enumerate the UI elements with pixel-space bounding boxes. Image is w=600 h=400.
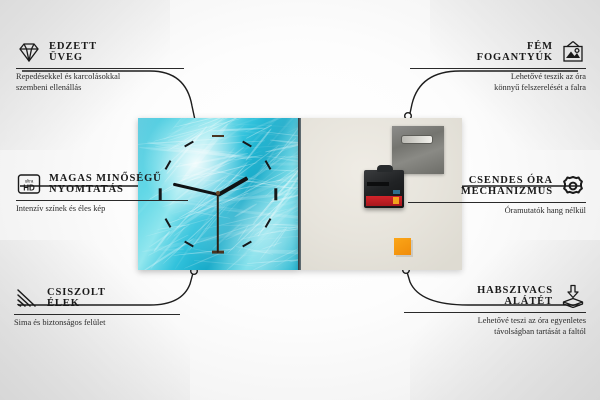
feature-title-line1: HABSZIVACS: [477, 285, 553, 296]
feature-title-line1: CSISZOLT: [47, 287, 106, 298]
feature-header: EDZETT ÜVEG: [16, 40, 184, 64]
feature-description-line1: Óramutatók hang nélkül: [408, 206, 586, 217]
feature-header: HABSZIVACS ALÁTÉT: [404, 284, 586, 308]
feature-title-line2: ÉLEK: [47, 298, 106, 309]
feature-title-group: HABSZIVACS ALÁTÉT: [477, 285, 553, 308]
mechanism-red-label: [366, 196, 402, 206]
feature-tempered-glass: EDZETT ÜVEG Repedésekkel és karcolásokka…: [16, 40, 184, 93]
feature-title-line1: MAGAS MINŐSÉGŰ: [49, 173, 162, 184]
hanger-slot: [401, 135, 433, 144]
panel-edge-seam: [298, 118, 301, 270]
feature-description-line1: Intenzív színek és éles kép: [16, 204, 188, 215]
feature-title-line2: ALÁTÉT: [504, 296, 553, 307]
foam-pad-icon: [560, 284, 586, 308]
feature-title-group: CSISZOLT ÉLEK: [47, 287, 106, 310]
feature-title-group: FÉM FOGANTYÚK: [477, 41, 553, 64]
feature-polished-edges: CSISZOLT ÉLEK Sima és biztonságos felüle…: [14, 286, 180, 329]
svg-text:HD: HD: [23, 183, 35, 192]
feature-title-group: CSENDES ÓRA MECHANIZMUS: [461, 175, 553, 198]
feature-description-line1: Lehetővé teszik az óra: [410, 72, 586, 83]
polished-edge-icon: [14, 286, 40, 310]
feature-title-line1: CSENDES ÓRA: [469, 175, 553, 186]
feature-header: CSENDES ÓRA MECHANIZMUS: [408, 174, 586, 198]
feature-header: CSISZOLT ÉLEK: [14, 286, 180, 310]
feature-description-line2: távolságban tartását a faltól: [404, 327, 586, 338]
feature-header: ultra HD MAGAS MINŐSÉGŰ NYOMTATÁS: [16, 172, 188, 196]
ultra-hd-icon: ultra HD: [16, 172, 42, 196]
feature-silent-mechanism: CSENDES ÓRA MECHANIZMUS Óramutatók hang …: [408, 174, 586, 217]
foam-pad-part: [394, 238, 411, 255]
mechanism-chip: [393, 190, 400, 194]
diamond-icon: [16, 40, 42, 64]
feature-metal-handles: FÉM FOGANTYÚK Lehetővé teszik az óra kön…: [410, 40, 586, 93]
feature-title-line2: NYOMTATÁS: [49, 184, 162, 195]
gear-icon: [560, 174, 586, 198]
clock-second-hand: [217, 194, 219, 252]
feature-description-line2: szembeni ellenállás: [16, 83, 184, 94]
feature-divider: [404, 312, 586, 313]
feature-title-line1: FÉM: [527, 41, 553, 52]
feature-title-line2: MECHANIZMUS: [461, 186, 553, 197]
infographic-canvas: EDZETT ÜVEG Repedésekkel és karcolásokka…: [0, 0, 600, 400]
feature-high-quality-print: ultra HD MAGAS MINŐSÉGŰ NYOMTATÁS Intenz…: [16, 172, 188, 215]
clock-center-pivot: [216, 191, 220, 195]
feature-description-line2: könnyű felszerelését a falra: [410, 83, 586, 94]
feature-description-line1: Lehetővé teszi az óra egyenletes: [404, 316, 586, 327]
mechanism-hook: [377, 165, 393, 172]
feature-title-line2: ÜVEG: [49, 52, 97, 63]
feature-description-line1: Repedésekkel és karcolásokkal: [16, 72, 184, 83]
feature-divider: [16, 200, 188, 201]
feature-header: FÉM FOGANTYÚK: [410, 40, 586, 64]
feature-divider: [16, 68, 184, 69]
picture-hanger-icon: [560, 40, 586, 64]
metal-hanger-part: [392, 126, 444, 174]
feature-divider: [408, 202, 586, 203]
feature-title-line1: EDZETT: [49, 41, 97, 52]
feature-foam-pad: HABSZIVACS ALÁTÉT Lehetővé teszi az óra …: [404, 284, 586, 337]
feature-divider: [14, 314, 180, 315]
feature-divider: [410, 68, 586, 69]
feature-title-group: MAGAS MINŐSÉGŰ NYOMTATÁS: [49, 173, 162, 196]
clock-mechanism-part: [364, 170, 404, 208]
feature-title-line2: FOGANTYÚK: [477, 52, 553, 63]
mechanism-battery-slot: [367, 182, 389, 186]
feature-description-line1: Sima és biztonságos felület: [14, 318, 180, 329]
feature-title-group: EDZETT ÜVEG: [49, 41, 97, 64]
